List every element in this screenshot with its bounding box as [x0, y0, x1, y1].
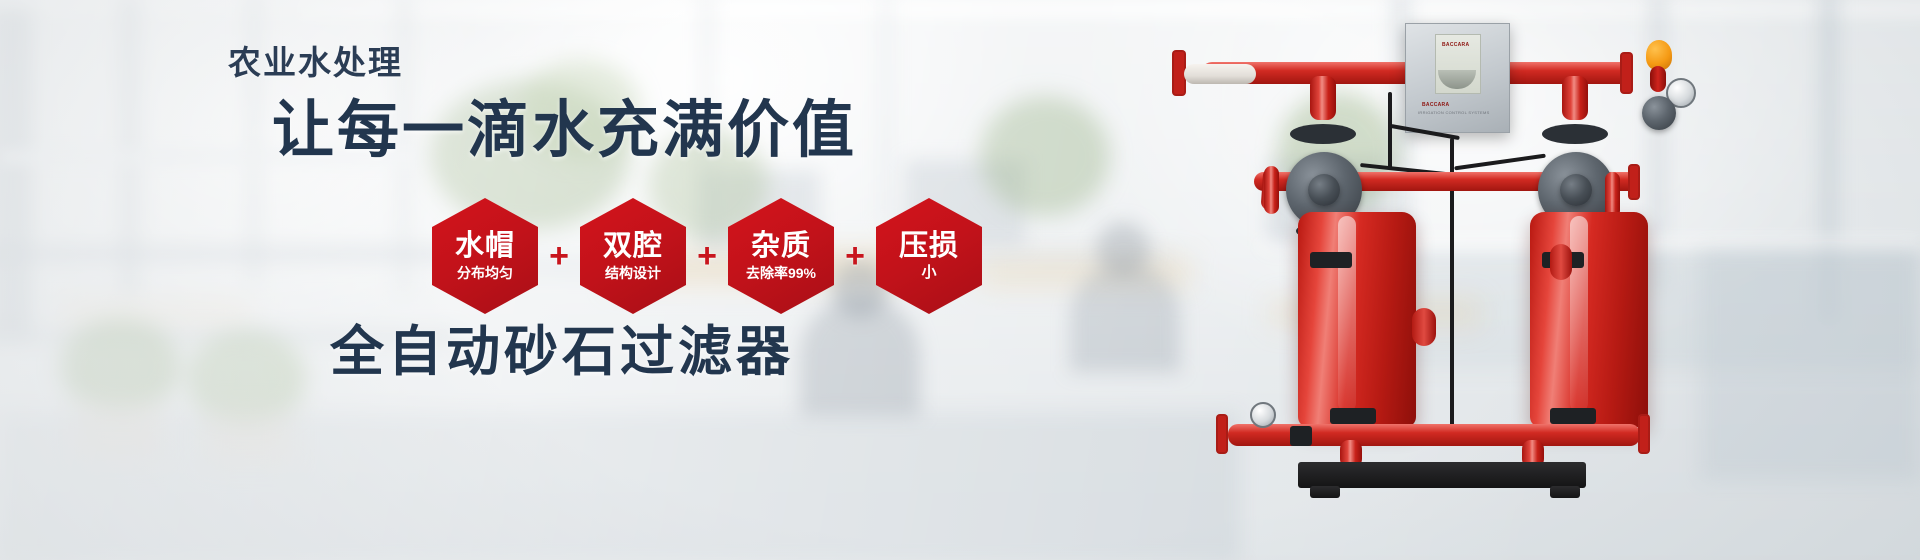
hero-banner: BACCARA BACCARA IRRIGATION CONTROL SYSTE…	[0, 0, 1920, 560]
feature-badge-dual-chamber: 双腔 结构设计	[580, 198, 686, 314]
banner-copy: 农业水处理 让每一滴水充满价值 水帽 分布均匀 + 双腔 结构设计 + 杂质 去…	[0, 0, 1160, 560]
banner-headline: 让每一滴水充满价值	[272, 100, 857, 162]
feature-badge-title: 压损	[899, 231, 959, 261]
feature-badge-row: 水帽 分布均匀 + 双腔 结构设计 + 杂质 去除率99% + 压损 小	[432, 198, 982, 314]
plus-separator-icon: +	[686, 239, 728, 273]
feature-badge-subtitle: 去除率99%	[746, 266, 816, 281]
banner-product-title: 全自动砂石过滤器	[330, 325, 794, 379]
plus-separator-icon: +	[834, 239, 876, 273]
feature-badge-pressure-loss: 压损 小	[876, 198, 982, 314]
feature-badge-subtitle: 结构设计	[605, 266, 661, 281]
feature-badge-impurity: 杂质 去除率99%	[728, 198, 834, 314]
feature-badge-subtitle: 分布均匀	[457, 266, 513, 281]
feature-badge-water-cap: 水帽 分布均匀	[432, 198, 538, 314]
feature-badge-title: 水帽	[455, 231, 515, 261]
product-photo-sand-filter: BACCARA BACCARA IRRIGATION CONTROL SYSTE…	[1150, 0, 1710, 500]
banner-eyebrow: 农业水处理	[228, 46, 403, 79]
feature-badge-title: 双腔	[603, 231, 663, 261]
feature-badge-subtitle: 小	[921, 265, 936, 282]
plus-separator-icon: +	[538, 239, 580, 273]
feature-badge-title: 杂质	[751, 231, 811, 261]
